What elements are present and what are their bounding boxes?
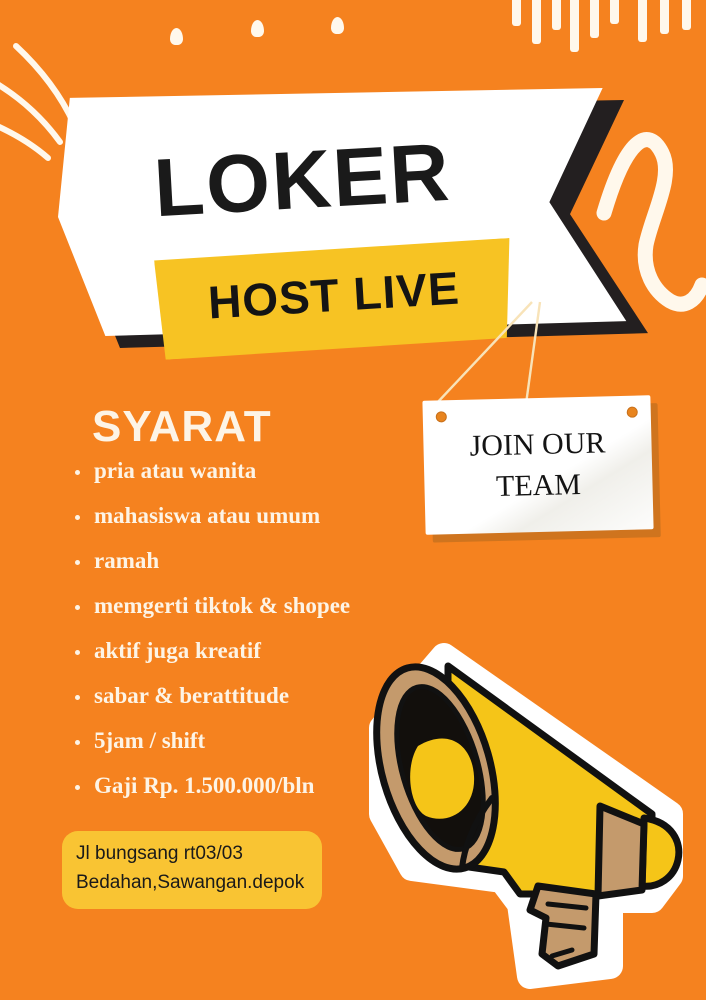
sign-text: JOIN OUR TEAM [423,421,653,509]
sign-line-2: TEAM [424,463,653,510]
teardrop-dot-icon [251,20,264,37]
requirements-heading: SYARAT [92,402,272,452]
join-our-team-sign: JOIN OUR TEAM [422,395,653,535]
vertical-bars-icon [512,0,706,60]
teardrop-dot-icon [331,17,344,34]
hanging-strings-icon [420,300,650,410]
address-line-2: Bedahan,Sawangan.depok [76,869,304,898]
sign-line-1: JOIN OUR [423,421,652,468]
list-item: pria atau wanita [72,458,432,484]
list-item: ramah [72,548,432,574]
address-badge: Jl bungsang rt03/03 Bedahan,Sawangan.dep… [62,831,322,909]
list-item: mahasiswa atau umum [72,503,432,529]
address-line-1: Jl bungsang rt03/03 [76,840,304,869]
list-item: memgerti tiktok & shopee [72,593,432,619]
teardrop-dot-icon [170,28,183,45]
megaphone-icon [352,618,706,1000]
poster-canvas: LOKER HOST LIVE SYARAT pria atau wanita … [0,0,706,1000]
headline-title: LOKER [152,126,454,236]
